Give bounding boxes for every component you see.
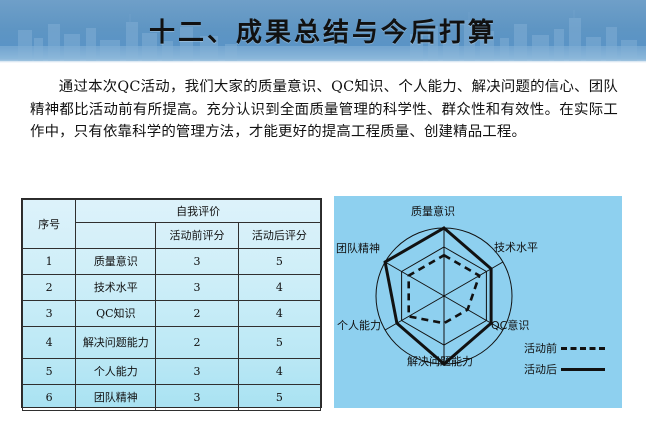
table-row: 5 个人能力 3 4 [23,359,321,385]
radar-label-technical-level: 技术水平 [494,242,538,254]
solid-line-icon [561,368,605,371]
legend-item-before: 活动前 [524,340,605,356]
cell-pre: 3 [156,249,238,275]
cell-item: 技术水平 [76,275,156,301]
cell-pre: 3 [156,359,238,385]
cell-post: 4 [238,301,320,327]
radar-chart-panel: 质量意识 技术水平 QC意识 解决问题能力 个人能力 团队精神 活动前 活动后 [334,196,622,408]
cell-no: 6 [23,385,76,411]
cell-no: 2 [23,275,76,301]
header-pre-score: 活动前评分 [156,223,238,249]
legend-item-after: 活动后 [524,361,605,377]
title-banner: 十二、成果总结与今后打算 [0,0,646,61]
cell-pre: 2 [156,327,238,359]
cell-pre: 3 [156,275,238,301]
cell-post: 5 [238,249,320,275]
table-header-row-1: 序号 自我评价 [23,200,321,223]
legend-label-after: 活动后 [524,361,557,377]
table-row: 4 解决问题能力 2 5 [23,327,321,359]
radar-label-personal-ability: 个人能力 [337,320,381,332]
radar-series-after [385,228,491,364]
table-row: 6 团队精神 3 5 [23,385,321,411]
cell-no: 4 [23,327,76,359]
page-title: 十二、成果总结与今后打算 [0,0,646,61]
cell-item: 团队精神 [76,385,156,411]
table-row: 1 质量意识 3 5 [23,249,321,275]
cell-item: 解决问题能力 [76,327,156,359]
cell-post: 5 [238,385,320,411]
header-item-blank [76,223,156,249]
cell-no: 3 [23,301,76,327]
summary-paragraph: 通过本次QC活动，我们大家的质量意识、QC知识、个人能力、解决问题的信心、团队精… [30,76,618,144]
cell-item: QC知识 [76,301,156,327]
header-post-score: 活动后评分 [238,223,320,249]
cell-no: 1 [23,249,76,275]
table-row: 3 QC知识 2 4 [23,301,321,327]
slide-root: 十二、成果总结与今后打算 通过本次QC活动，我们大家的质量意识、QC知识、个人能… [0,0,646,447]
header-no: 序号 [23,200,76,249]
radar-label-quality-awareness: 质量意识 [411,206,455,218]
cell-item: 个人能力 [76,359,156,385]
radar-label-team-spirit: 团队精神 [336,243,380,255]
legend-label-before: 活动前 [524,340,557,356]
cell-pre: 3 [156,385,238,411]
cell-post: 4 [238,275,320,301]
header-group-self-evaluation: 自我评价 [76,200,321,223]
dashed-line-icon [561,347,605,350]
self-evaluation-table: 序号 自我评价 活动前评分 活动后评分 1 质量意识 3 5 2 技术水平 3 … [21,198,322,408]
radar-label-problem-solving: 解决问题能力 [407,356,473,368]
cell-pre: 2 [156,301,238,327]
radar-label-qc-awareness: QC意识 [491,320,529,332]
cell-item: 质量意识 [76,249,156,275]
radar-axis-spokes [385,228,503,364]
cell-post: 4 [238,359,320,385]
banner-underline [0,61,646,63]
table-row: 2 技术水平 3 4 [23,275,321,301]
cell-post: 5 [238,327,320,359]
cell-no: 5 [23,359,76,385]
